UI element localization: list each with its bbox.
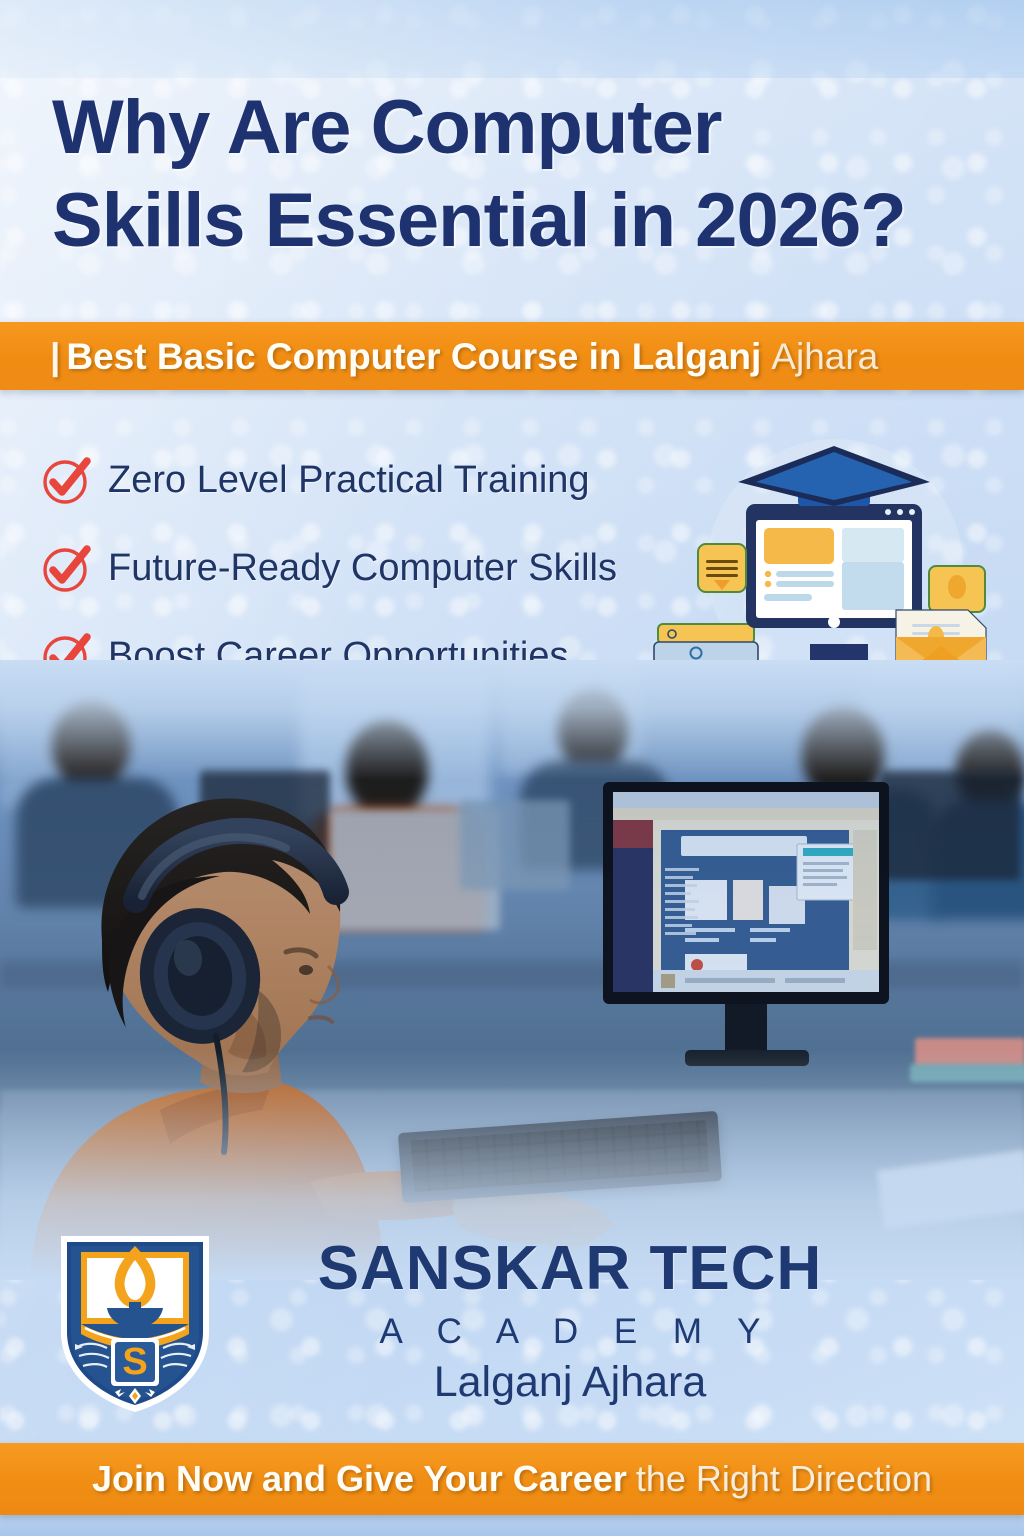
subtitle-text: |Best Basic Computer Course in LalganjAj…: [0, 338, 878, 375]
poster-canvas: Why Are Computer Skills Essential in 202…: [0, 0, 1024, 1536]
bottom-strip: [0, 1515, 1024, 1536]
list-item: Zero Level Practical Training: [40, 436, 680, 524]
note-card-icon: [698, 544, 746, 592]
subtitle-bar: |Best Basic Computer Course in LalganjAj…: [0, 322, 1024, 390]
check-circle-icon: [40, 454, 92, 506]
monogram-badge: S: [111, 1338, 159, 1386]
cta-light: the Right Direction: [636, 1458, 932, 1499]
sanskar-tech-academy-crest: S: [45, 1228, 225, 1418]
brand-subname: A C A D E M Y: [225, 1314, 915, 1349]
headline-line-2: Skills Essential in 2026?: [52, 181, 982, 260]
brand-name: SANSKAR TECH: [225, 1238, 915, 1300]
benefit-label: Future-Ready Computer Skills: [108, 547, 617, 590]
page-title: Why Are Computer Skills Essential in 202…: [52, 88, 982, 260]
photo-scene: [0, 660, 1024, 1280]
cta-text: Join Now and Give Your Careerthe Right D…: [92, 1461, 932, 1497]
check-circle-icon: [40, 542, 92, 594]
classroom-photo: [0, 660, 1024, 1280]
brand-block: SANSKAR TECH A C A D E M Y Lalganj Ajhar…: [225, 1238, 915, 1404]
svg-text:S: S: [122, 1341, 147, 1383]
headline-line-1: Why Are Computer: [52, 85, 721, 170]
subtitle-light: Ajhara: [771, 336, 878, 377]
subtitle-strong: Best Basic Computer Course in Lalganj: [66, 336, 761, 377]
benefit-label: Zero Level Practical Training: [108, 459, 590, 502]
brand-location: Lalganj Ajhara: [225, 1361, 915, 1404]
cta-bar[interactable]: Join Now and Give Your Careerthe Right D…: [0, 1443, 1024, 1515]
subtitle-pipe-glyph: |: [50, 336, 60, 377]
cta-strong: Join Now and Give Your Career: [92, 1458, 627, 1499]
list-item: Future-Ready Computer Skills: [40, 524, 680, 612]
photo-top-fade: [0, 660, 1024, 780]
